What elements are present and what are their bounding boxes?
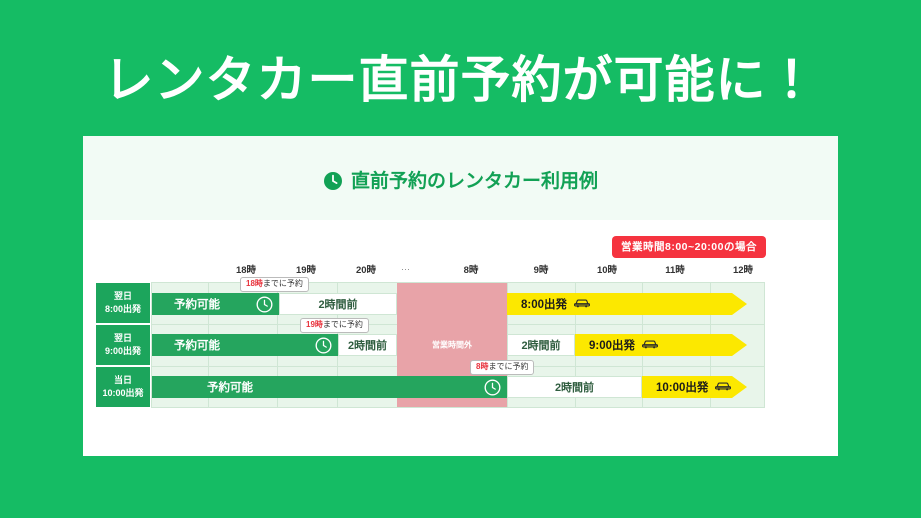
arrow-tip [732,376,747,398]
example-card: 直前予約のレンタカー利用例 営業時間8:00~20:00の場合 18時 19時 … [83,136,838,456]
row-label-day: 当日 [114,374,132,387]
departure-label: 10:00出発 [656,379,708,395]
clock-icon [323,171,343,197]
available-label: 予約可能 [174,296,220,312]
axis-tick-ellipsis: … [401,262,412,273]
row-label-time: 8:00出発 [105,303,141,316]
business-hours-badge: 営業時間8:00~20:00の場合 [612,236,766,258]
deadline-hour: 18時 [246,279,263,288]
row-label-time: 10:00出発 [102,387,143,400]
axis-tick-12: 12時 [733,262,753,276]
row-label-3: 当日 10:00出発 [95,366,151,408]
lead-time-box-2-row-2: 2時間前 [507,334,575,356]
departure-bar-row-3[interactable]: 10:00出発 [642,376,732,398]
axis-tick-19: 19時 [296,262,316,276]
departure-bar-row-2[interactable]: 9:00出発 [575,334,732,356]
axis-tick-8: 8時 [464,262,479,276]
row-label-day: 翌日 [114,332,132,345]
page-headline: レンタカー直前予約が可能に！ [0,52,921,110]
row-label-time: 9:00出発 [105,345,141,358]
deadline-tooltip-row-3: 8時までに予約 [470,360,534,375]
departure-label: 9:00出発 [589,337,635,353]
axis-tick-20: 20時 [356,262,376,276]
clock-icon [484,379,501,396]
deadline-rest: までに予約 [263,279,303,288]
timeline-chart: 18時 19時 20時 … 8時 9時 10時 11時 12時 営業時間外 [151,262,765,408]
card-title-text: 直前予約のレンタカー利用例 [351,171,598,192]
available-bar-row-2[interactable]: 予約可能 [152,334,338,356]
car-icon [714,378,732,396]
clock-icon [256,296,273,313]
row-label-day: 翌日 [114,290,132,303]
car-icon [573,295,591,313]
departure-bar-row-1[interactable]: 8:00出発 [507,293,732,315]
card-title: 直前予約のレンタカー利用例 [83,166,838,197]
available-bar-row-3[interactable]: 予約可能 [152,376,507,398]
axis-tick-9: 9時 [534,262,549,276]
timeline-grid: 営業時間外 予約可能 18時までに予約 2時間前 8:00出発 [151,282,765,408]
deadline-rest: までに予約 [323,320,363,329]
off-hours-label: 営業時間外 [397,340,507,351]
deadline-rest: までに予約 [488,362,528,371]
axis-tick-18: 18時 [236,262,256,276]
arrow-tip [732,334,747,356]
deadline-hour: 19時 [306,320,323,329]
available-label: 予約可能 [207,379,253,395]
clock-icon [315,337,332,354]
axis-tick-11: 11時 [665,262,685,276]
row-label-2: 翌日 9:00出発 [95,324,151,366]
arrow-tip [732,293,747,315]
departure-label: 8:00出発 [521,296,567,312]
deadline-tooltip-row-1: 18時までに予約 [240,277,309,292]
deadline-hour: 8時 [476,362,488,371]
lead-time-box-row-3: 2時間前 [507,376,642,398]
available-label: 予約可能 [174,337,220,353]
lead-time-box-row-1: 2時間前 [279,293,397,315]
car-icon [641,336,659,354]
deadline-tooltip-row-2: 19時までに予約 [300,318,369,333]
available-bar-row-1[interactable]: 予約可能 [152,293,279,315]
lead-time-box-row-2: 2時間前 [338,334,397,356]
row-label-1: 翌日 8:00出発 [95,282,151,324]
axis-tick-10: 10時 [597,262,617,276]
